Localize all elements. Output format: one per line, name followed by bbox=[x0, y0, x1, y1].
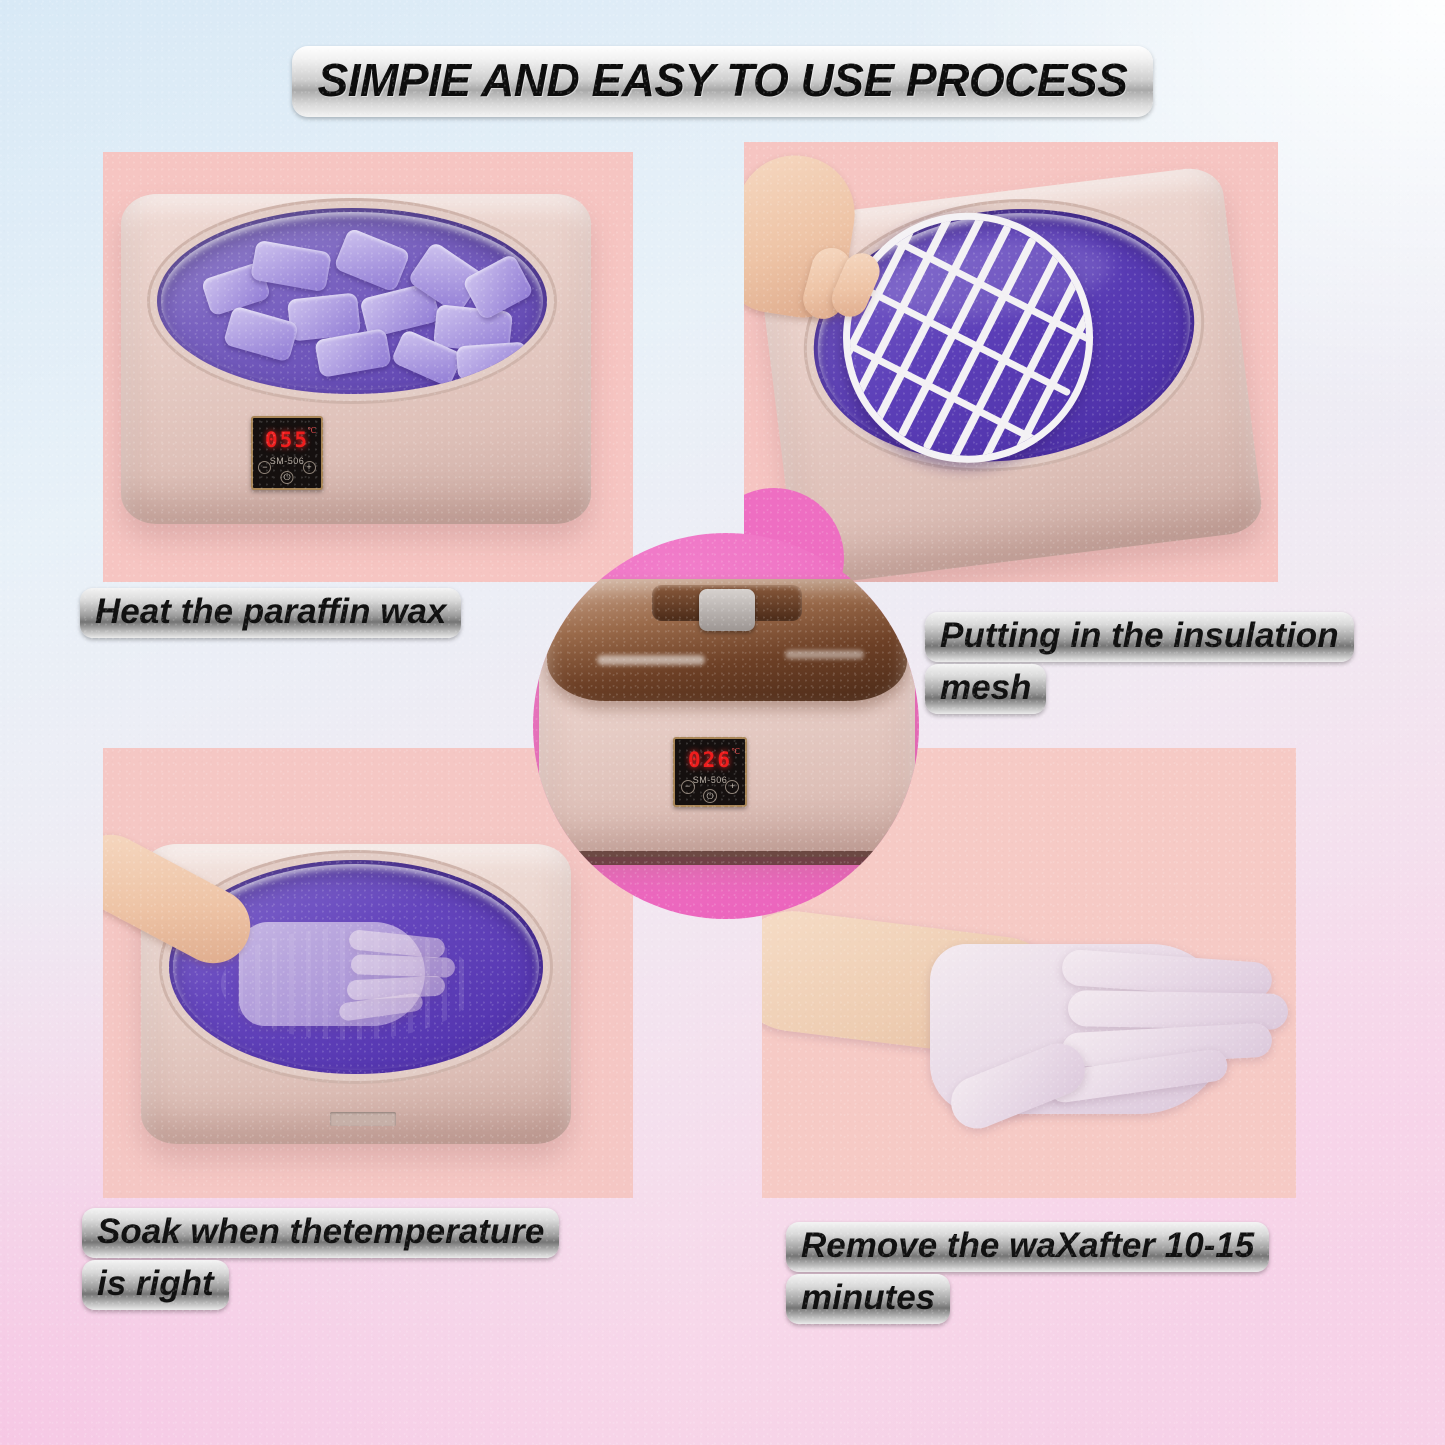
step-image-insulation-mesh bbox=[744, 142, 1278, 582]
page-title: SIMPIE AND EASY TO USE PROCESS bbox=[292, 46, 1154, 117]
lid-handle[interactable] bbox=[699, 589, 755, 631]
minus-button[interactable]: − bbox=[258, 461, 271, 474]
plus-button[interactable]: + bbox=[303, 461, 316, 474]
lid-highlight bbox=[785, 650, 864, 659]
wax-warmer-device-3 bbox=[141, 844, 571, 1144]
power-button[interactable]: ⏻ bbox=[281, 471, 294, 484]
device-control-panel-center[interactable]: 026 ℃ SM-506 − + ⏻ bbox=[673, 737, 747, 807]
lid-highlight bbox=[597, 655, 705, 665]
caption-line: is right bbox=[82, 1260, 229, 1310]
device-vent bbox=[330, 1112, 396, 1126]
caption-remove-wax: Remove the waXafter 10-15 minutes bbox=[786, 1222, 1269, 1326]
caption-line: Soak when thetemperature bbox=[82, 1208, 559, 1258]
device-lid[interactable] bbox=[547, 579, 907, 701]
device-base bbox=[545, 851, 909, 865]
wax-basin bbox=[157, 208, 547, 394]
caption-heat-the-wax: Heat the paraffin wax bbox=[80, 588, 461, 640]
plus-button[interactable]: + bbox=[725, 780, 739, 794]
minus-button[interactable]: − bbox=[681, 780, 695, 794]
page-header: SIMPIE AND EASY TO USE PROCESS bbox=[0, 46, 1445, 117]
caption-line: Remove the waXafter 10-15 bbox=[786, 1222, 1269, 1272]
wax-chunk bbox=[333, 227, 411, 293]
step-image-heat-the-wax: 055 ℃ SM-506 − + ⏻ bbox=[103, 152, 633, 582]
caption-insulation-mesh: Putting in the insulation mesh bbox=[925, 612, 1354, 716]
finger bbox=[351, 954, 456, 978]
celsius-unit-label: ℃ bbox=[731, 747, 740, 756]
caption-line: minutes bbox=[786, 1274, 950, 1324]
caption-soak: Soak when thetemperature is right bbox=[82, 1208, 559, 1312]
caption-line: Putting in the insulation bbox=[925, 612, 1354, 662]
caption-line: mesh bbox=[925, 664, 1046, 714]
center-highlight-circle: 026 ℃ SM-506 − + ⏻ bbox=[533, 533, 919, 919]
wax-chunk bbox=[456, 342, 528, 381]
wax-warmer-device-center: 026 ℃ SM-506 − + ⏻ bbox=[539, 615, 915, 857]
caption-line: Heat the paraffin wax bbox=[80, 588, 461, 638]
power-button[interactable]: ⏻ bbox=[703, 789, 717, 803]
celsius-unit-label: ℃ bbox=[307, 426, 316, 435]
device-control-panel-1[interactable]: 055 ℃ SM-506 − + ⏻ bbox=[251, 416, 323, 490]
wax-warmer-device-1: 055 ℃ SM-506 − + ⏻ bbox=[121, 194, 591, 524]
